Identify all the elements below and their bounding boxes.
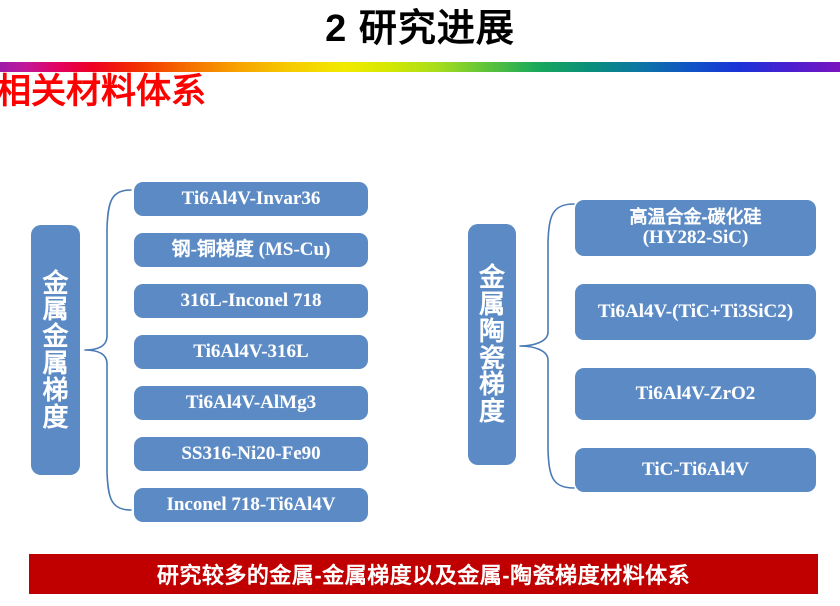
group-label-char: 属: [42, 296, 68, 323]
group-label-char: 梯: [42, 377, 68, 404]
list-item[interactable]: Ti6Al4V-316L: [134, 335, 368, 369]
list-item-label: Ti6Al4V-316L: [193, 341, 308, 362]
list-item-label: Ti6Al4V-ZrO2: [636, 383, 756, 404]
list-item[interactable]: 钢-铜梯度 (MS-Cu): [134, 233, 368, 267]
list-item-label: Ti6Al4V-AlMg3: [186, 392, 316, 413]
brace-metal-ceramic: [519, 202, 575, 490]
group-label-char: 属: [42, 350, 68, 377]
page-title: 2 研究进展: [0, 2, 840, 56]
list-item-label: Ti6Al4V-Invar36: [182, 188, 321, 209]
group-label-char: 瓷: [479, 345, 505, 372]
list-item[interactable]: 高温合金-碳化硅 (HY282-SiC): [575, 200, 816, 256]
list-item[interactable]: 316L-Inconel 718: [134, 284, 368, 318]
list-item-label: TiC-Ti6Al4V: [642, 459, 749, 480]
group-label-char: 梯: [479, 371, 505, 398]
list-item[interactable]: SS316-Ni20-Fe90: [134, 437, 368, 471]
list-item-label: Inconel 718-Ti6Al4V: [166, 494, 335, 515]
list-item[interactable]: TiC-Ti6Al4V: [575, 448, 816, 492]
list-item-label: Ti6Al4V-(TiC+Ti3SiC2): [598, 301, 793, 322]
list-item-label-line1: 高温合金-碳化硅: [630, 207, 762, 227]
list-item[interactable]: Ti6Al4V-ZrO2: [575, 368, 816, 420]
group-label-char: 金: [479, 264, 505, 291]
group-label-metal-metal: 金 属 金 属 梯 度: [31, 225, 80, 475]
list-item-label: 钢-铜梯度 (MS-Cu): [172, 239, 331, 260]
group-label-metal-ceramic: 金 属 陶 瓷 梯 度: [468, 224, 516, 465]
conclusion-text: 研究较多的金属-金属梯度以及金属-陶瓷梯度材料体系: [157, 558, 690, 590]
list-item[interactable]: Ti6Al4V-(TiC+Ti3SiC2): [575, 284, 816, 340]
list-item[interactable]: Ti6Al4V-AlMg3: [134, 386, 368, 420]
group-label-char: 度: [479, 398, 505, 425]
list-item[interactable]: Inconel 718-Ti6Al4V: [134, 488, 368, 522]
brace-metal-metal: [84, 188, 132, 512]
list-item-label: 316L-Inconel 718: [181, 290, 322, 311]
group-label-char: 金: [42, 323, 68, 350]
group-label-char: 金: [42, 270, 68, 297]
conclusion-banner: 研究较多的金属-金属梯度以及金属-陶瓷梯度材料体系: [29, 554, 818, 594]
list-item-label-line2: (HY282-SiC): [643, 227, 749, 248]
list-item-label: SS316-Ni20-Fe90: [181, 443, 320, 464]
group-label-char: 陶: [479, 318, 505, 345]
list-item[interactable]: Ti6Al4V-Invar36: [134, 182, 368, 216]
group-label-char: 属: [479, 291, 505, 318]
section-subtitle: 相关材料体系: [0, 70, 206, 114]
group-label-char: 度: [42, 404, 68, 431]
